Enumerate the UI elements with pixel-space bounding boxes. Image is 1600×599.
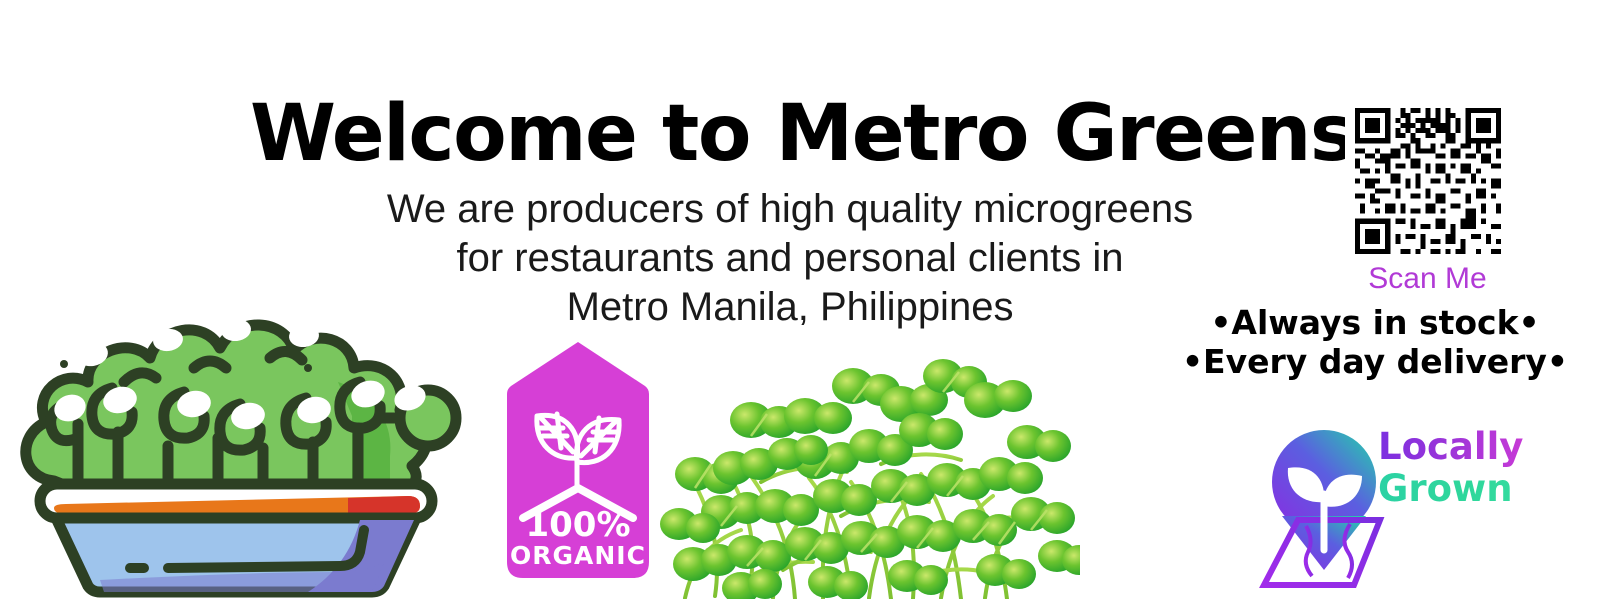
claim-every-day-delivery: •Every day delivery•: [1150, 342, 1600, 381]
locally-grown-logo: Locally Grown: [1258, 412, 1528, 592]
claims-block: •Always in stock• •Every day delivery•: [1150, 303, 1600, 381]
badge-organic-text: ORGANIC: [510, 541, 646, 570]
microgreens-tray-icon: [8, 296, 468, 599]
logo-word-grown: Grown: [1378, 468, 1528, 510]
claim-always-in-stock: •Always in stock•: [1150, 303, 1600, 342]
badge-percent-text: 100%: [525, 505, 630, 545]
locally-grown-wordmark: Locally Grown: [1378, 426, 1528, 510]
promo-banner: Welcome to Metro Greens! We are producer…: [0, 0, 1600, 599]
page-title: Welcome to Metro Greens!: [250, 95, 1330, 173]
microgreens-leaves-icon: [655, 356, 1080, 599]
logo-word-locally: Locally: [1378, 426, 1528, 468]
organic-badge: 100% ORGANIC: [505, 340, 651, 580]
qr-scan-me-label: Scan Me: [1340, 262, 1515, 296]
qr-code-icon[interactable]: [1345, 98, 1511, 264]
subtitle-line-2: for restaurants and personal clients in: [250, 234, 1330, 283]
subtitle-line-1: We are producers of high quality microgr…: [250, 185, 1330, 234]
qr-code-block[interactable]: Scan Me: [1340, 98, 1515, 296]
sprout-in-field-icon: [1258, 420, 1388, 595]
